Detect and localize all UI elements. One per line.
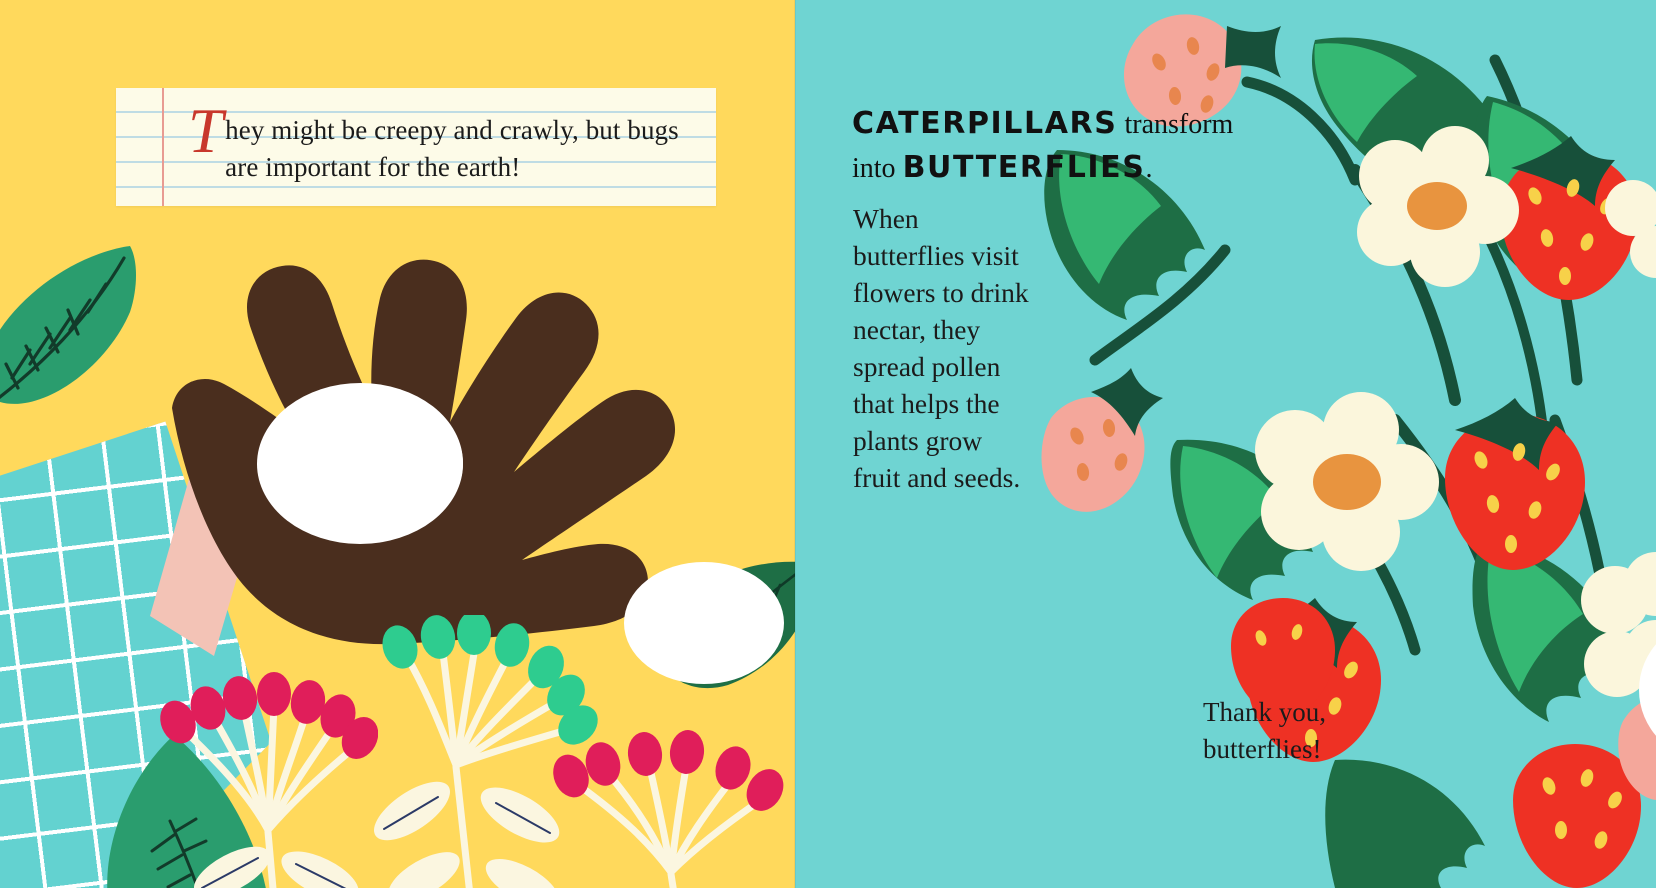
headline-word-butterflies: BUTTERFLIES (903, 150, 1146, 185)
headline-connector-transform: transform (1124, 109, 1233, 140)
blossom-center (1255, 392, 1439, 571)
white-ellipse-cutout-1 (258, 383, 463, 543)
strawberry-ripe-mid-right (1445, 398, 1585, 570)
leaf-cluster-bottom-right (1325, 760, 1485, 888)
pollination-body-text: When butterflies visit flowers to drink … (853, 200, 1033, 496)
umbel-flower-pink-left (148, 660, 378, 888)
intro-paragraph: They might be creepy and crawly, but bug… (188, 112, 706, 186)
leaf-top-left-icon (0, 228, 146, 408)
strawberry-unripe-left (1042, 368, 1164, 512)
page-gutter (794, 0, 796, 888)
headline-connector-into: into (852, 153, 896, 184)
drop-cap-letter: T (188, 108, 223, 154)
right-page-headline: CATERPILLARS transform into BUTTERFLIES. (852, 104, 1212, 192)
umbel-flower-pink-right (545, 730, 795, 888)
notebook-margin-line (162, 88, 164, 206)
intro-paragraph-text: hey might be creepy and crawly, but bugs… (225, 115, 679, 182)
headline-period: . (1145, 153, 1152, 184)
notebook-paper-card: They might be creepy and crawly, but bug… (116, 88, 716, 206)
thank-you-caption: Thank you, butterflies! (1203, 694, 1393, 768)
book-spread: They might be creepy and crawly, but bug… (0, 0, 1656, 888)
headline-word-caterpillars: CATERPILLARS (852, 106, 1117, 141)
white-ellipse-cutout-2 (624, 562, 784, 684)
